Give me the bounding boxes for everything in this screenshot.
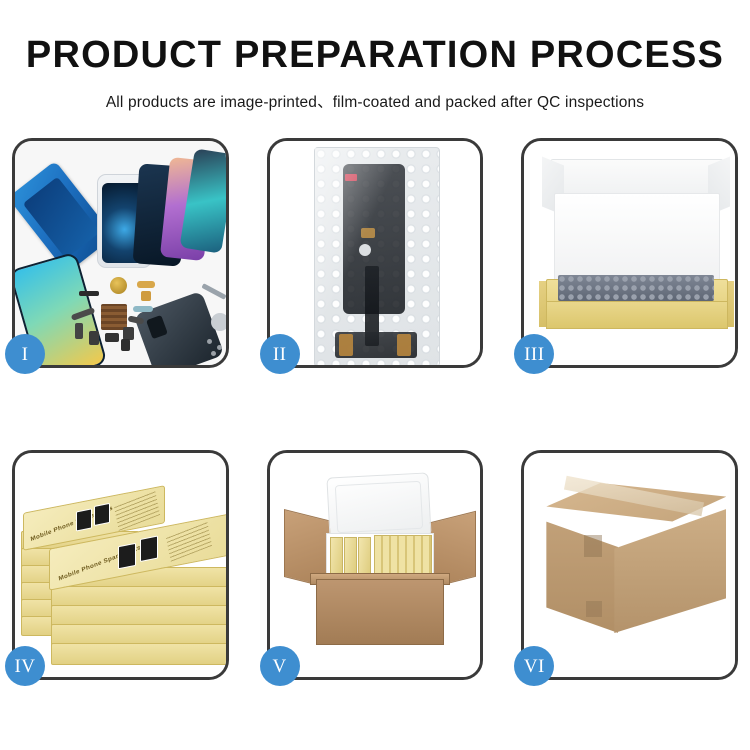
chip-grid-icon <box>101 304 127 330</box>
step-panel-6: VI <box>521 450 738 680</box>
step-5-image <box>270 453 481 677</box>
spec-lines <box>166 521 212 562</box>
foam-box-lid-icon <box>326 472 431 541</box>
step-panel-1: I <box>12 138 229 368</box>
step-badge-5: V <box>260 646 300 686</box>
step-badge-2: II <box>260 334 300 374</box>
box-layer <box>51 643 226 665</box>
screw-icon <box>217 345 222 350</box>
gold-contact-icon <box>397 334 411 356</box>
step-badge-1: I <box>5 334 45 374</box>
steps-grid: I II <box>12 138 738 680</box>
carton-right-face <box>614 509 726 633</box>
carton-body-icon <box>316 579 444 645</box>
steps-row-top: I II <box>12 138 738 368</box>
step-badge-3: III <box>514 334 554 374</box>
gold-contact-icon <box>339 334 353 356</box>
white-foam-sheet-icon <box>554 193 720 287</box>
small-part-icon <box>105 333 119 342</box>
carton-seam <box>586 601 602 617</box>
bubble-wrapped-contents-icon <box>558 275 714 301</box>
button-part-icon <box>121 339 130 351</box>
retail-box-stack-icon: Mobile Phone Spare Parts Mobile Phone Sp… <box>21 471 226 667</box>
red-label-icon <box>345 174 357 181</box>
sticker-dot-icon <box>359 244 371 256</box>
speaker-part-icon <box>79 291 99 296</box>
flex-cable-icon <box>137 281 155 288</box>
pry-tool-icon <box>201 283 225 300</box>
carton-seam <box>584 535 602 557</box>
header: PRODUCT PREPARATION PROCESS All products… <box>0 0 750 112</box>
step-2-image <box>270 141 481 365</box>
connector-part-icon <box>141 291 151 301</box>
steps-row-bottom: Mobile Phone Spare Parts Mobile Phone Sp… <box>12 450 738 680</box>
small-part-icon <box>75 323 83 339</box>
step-panel-3: III <box>521 138 738 368</box>
step-4-image: Mobile Phone Spare Parts Mobile Phone Sp… <box>15 453 226 677</box>
gold-contact-icon <box>361 228 375 238</box>
small-part-icon <box>89 331 99 345</box>
shipping-carton-icon <box>546 483 726 635</box>
screw-icon <box>211 351 216 356</box>
step-panel-5: V <box>267 450 484 680</box>
page-title: PRODUCT PREPARATION PROCESS <box>0 0 750 77</box>
screw-icon <box>207 339 212 344</box>
product-preparation-infographic: PRODUCT PREPARATION PROCESS All products… <box>0 0 750 750</box>
step-badge-4: IV <box>5 646 45 686</box>
spec-lines <box>114 490 160 531</box>
step-badge-6: VI <box>514 646 554 686</box>
tool-head-icon <box>211 313 226 331</box>
camera-module-icon <box>110 277 127 294</box>
phone-image-icon <box>140 536 158 562</box>
step-6-image <box>524 453 735 677</box>
blue-flex-cable-icon <box>133 306 153 312</box>
phone-image-icon <box>94 503 110 526</box>
phone-image-icon <box>76 508 92 531</box>
step-1-image <box>15 141 226 365</box>
step-3-image <box>524 141 735 365</box>
bubble-wrap-bag-icon <box>314 147 440 365</box>
yellow-box-front-icon <box>546 301 728 329</box>
step-panel-4: Mobile Phone Spare Parts Mobile Phone Sp… <box>12 450 229 680</box>
carton-left-face <box>546 517 618 633</box>
step-panel-2: II <box>267 138 484 368</box>
page-subtitle: All products are image-printed、film-coat… <box>0 77 750 112</box>
phone-image-icon <box>118 543 136 569</box>
